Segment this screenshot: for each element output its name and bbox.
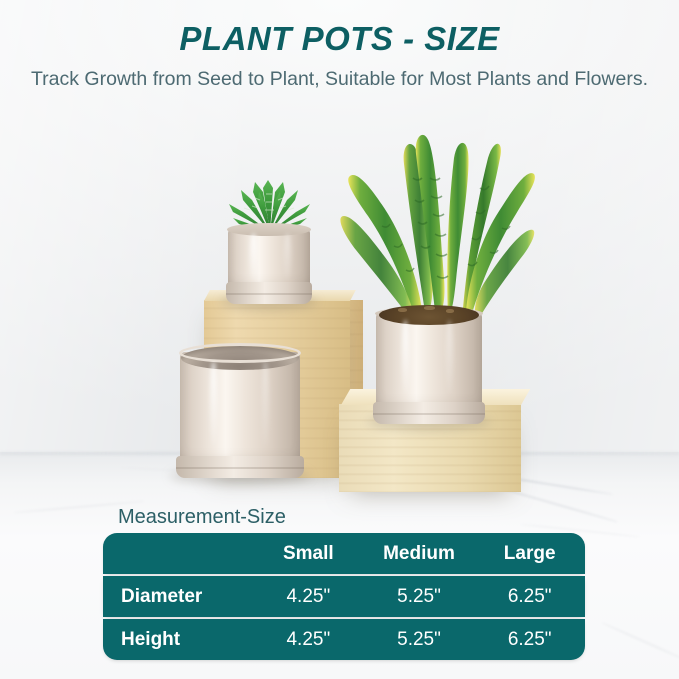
pot-saucer — [226, 282, 313, 304]
measurement-label: Measurement-Size — [118, 506, 286, 529]
diameter-small: 4.25" — [253, 586, 364, 608]
pot-highlight — [262, 361, 269, 446]
pot-saucer — [373, 402, 485, 424]
pot-highlight — [284, 233, 291, 280]
pot-rim — [227, 223, 311, 236]
table-row: Diameter 4.25" 5.25" 6.25" — [103, 576, 585, 617]
table-header-row: Small Medium Large — [103, 533, 585, 574]
saucer-line — [176, 467, 303, 469]
height-large: 6.25" — [474, 629, 585, 651]
measurement-table: Small Medium Large Diameter 4.25" 5.25" … — [103, 533, 585, 660]
pot-highlight — [446, 320, 453, 394]
height-medium: 5.25" — [364, 629, 475, 651]
row-label-height: Height — [103, 629, 253, 651]
soil-fleck — [446, 309, 454, 313]
diameter-large: 6.25" — [474, 586, 585, 608]
table-header-small: Small — [253, 543, 364, 565]
product-infographic: PLANT POTS - SIZE Track Growth from Seed… — [0, 0, 679, 679]
pot-body — [376, 312, 482, 410]
soil-fleck — [424, 306, 435, 310]
page-subtitle: Track Growth from Seed to Plant, Suitabl… — [0, 66, 679, 93]
height-small: 4.25" — [253, 629, 364, 651]
page-title: PLANT POTS - SIZE — [0, 20, 679, 58]
table-row: Height 4.25" 5.25" 6.25" — [103, 619, 585, 660]
pot-rim — [179, 343, 301, 363]
small-pot — [228, 228, 310, 290]
saucer-line — [226, 293, 313, 295]
pot-saucer — [176, 456, 303, 478]
diameter-medium: 5.25" — [364, 586, 475, 608]
table-header-large: Large — [474, 543, 585, 565]
row-label-diameter: Diameter — [103, 586, 253, 608]
snake-plant — [330, 118, 540, 323]
medium-pot — [180, 352, 300, 464]
snake-plant-svg — [330, 118, 540, 323]
pot-highlight — [250, 233, 257, 280]
large-pot — [376, 312, 482, 410]
saucer-line — [373, 413, 485, 415]
pot-highlight — [402, 320, 409, 394]
pot-body — [228, 228, 310, 290]
table-header-medium: Medium — [364, 543, 475, 565]
pot-highlight — [210, 361, 217, 446]
soil-fleck — [398, 308, 407, 312]
